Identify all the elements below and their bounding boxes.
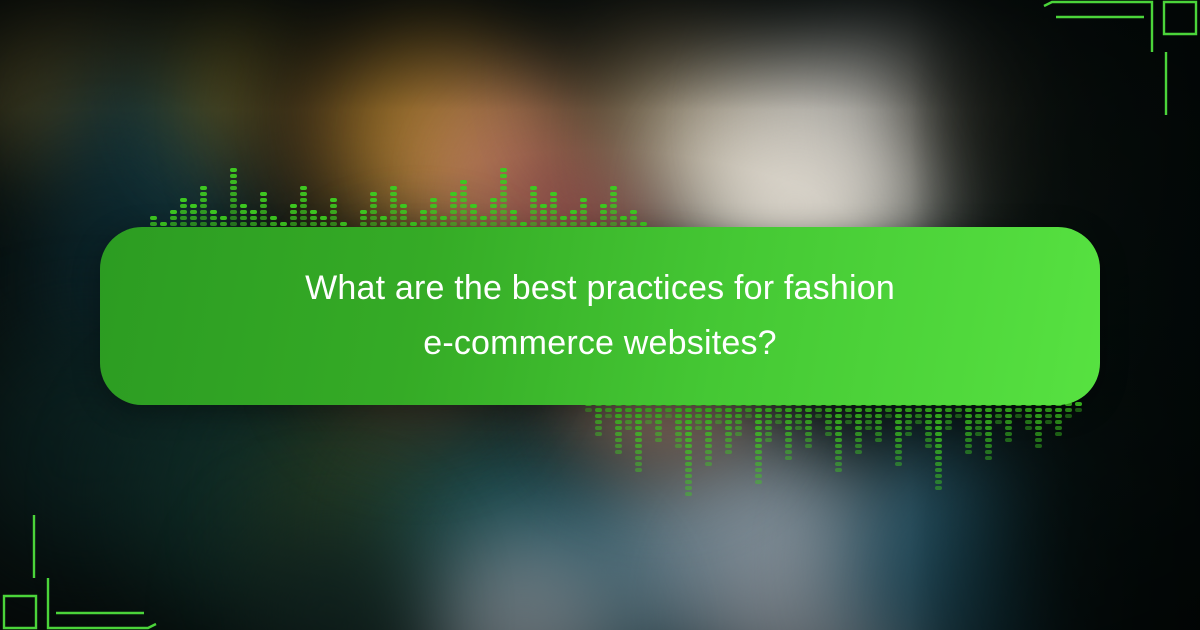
waveform-dot xyxy=(945,426,952,430)
waveform-dot xyxy=(240,204,247,208)
waveform-dot xyxy=(530,198,537,202)
waveform-dot xyxy=(895,414,902,418)
waveform-dot xyxy=(915,408,922,412)
waveform-dot xyxy=(975,420,982,424)
waveform-dot xyxy=(935,474,942,478)
waveform-dot xyxy=(785,408,792,412)
waveform-dot xyxy=(785,414,792,418)
waveform-dot xyxy=(995,414,1002,418)
waveform-dot xyxy=(450,204,457,208)
waveform-dot xyxy=(290,222,297,226)
waveform-dot xyxy=(630,210,637,214)
waveform-dot xyxy=(490,198,497,202)
waveform-dot xyxy=(290,204,297,208)
waveform-dot xyxy=(725,444,732,448)
waveform-dot xyxy=(630,216,637,220)
waveform-dot xyxy=(655,408,662,412)
waveform-dot xyxy=(845,414,852,418)
waveform-dot xyxy=(450,210,457,214)
waveform-dot xyxy=(460,216,467,220)
waveform-dot xyxy=(390,210,397,214)
waveform-dot xyxy=(1015,414,1022,418)
waveform-dot xyxy=(765,426,772,430)
waveform-dot xyxy=(300,198,307,202)
waveform-dot xyxy=(665,408,672,412)
waveform-dot xyxy=(190,204,197,208)
waveform-dot xyxy=(965,444,972,448)
waveform-dot xyxy=(785,432,792,436)
waveform-dot xyxy=(865,408,872,412)
waveform-dot xyxy=(875,438,882,442)
waveform-dot xyxy=(1025,426,1032,430)
waveform-dot xyxy=(580,198,587,202)
waveform-dot xyxy=(975,414,982,418)
waveform-dot xyxy=(620,222,627,226)
waveform-dot xyxy=(470,204,477,208)
waveform-dot xyxy=(440,216,447,220)
waveform-dot xyxy=(170,210,177,214)
waveform-dot xyxy=(735,432,742,436)
waveform-dot xyxy=(925,426,932,430)
waveform-dot xyxy=(825,408,832,412)
waveform-dot xyxy=(595,420,602,424)
waveform-dot xyxy=(230,222,237,226)
waveform-dot xyxy=(835,408,842,412)
waveform-dot xyxy=(635,456,642,460)
waveform-bar xyxy=(685,400,692,496)
waveform-dot xyxy=(1005,420,1012,424)
waveform-dot xyxy=(300,210,307,214)
waveform-dot xyxy=(785,438,792,442)
waveform-dot xyxy=(635,462,642,466)
waveform-dot xyxy=(370,210,377,214)
waveform-dot xyxy=(1005,432,1012,436)
waveform-dot xyxy=(460,186,467,190)
waveform-dot xyxy=(815,408,822,412)
waveform-dot xyxy=(685,492,692,496)
waveform-dot xyxy=(615,414,622,418)
waveform-dot xyxy=(895,420,902,424)
waveform-dot xyxy=(160,222,167,226)
waveform-dot xyxy=(785,450,792,454)
waveform-dot xyxy=(180,216,187,220)
waveform-dot xyxy=(875,426,882,430)
waveform-dot xyxy=(460,210,467,214)
waveform-dot xyxy=(955,414,962,418)
waveform-dot xyxy=(390,192,397,196)
waveform-dot xyxy=(945,408,952,412)
waveform-dot xyxy=(410,222,417,226)
waveform-dot xyxy=(500,210,507,214)
waveform-dot xyxy=(300,204,307,208)
waveform-dot xyxy=(645,408,652,412)
waveform-dot xyxy=(675,414,682,418)
waveform-dot xyxy=(500,174,507,178)
waveform-dot xyxy=(470,210,477,214)
waveform-dot xyxy=(625,408,632,412)
waveform-dot xyxy=(755,444,762,448)
waveform-dot xyxy=(450,216,457,220)
waveform-dot xyxy=(955,408,962,412)
waveform-dot xyxy=(735,426,742,430)
waveform-dot xyxy=(935,468,942,472)
waveform-dot xyxy=(835,414,842,418)
waveform-dot xyxy=(665,414,672,418)
waveform-dot xyxy=(380,222,387,226)
waveform-dot xyxy=(1055,432,1062,436)
waveform-dot xyxy=(1035,414,1042,418)
waveform-dot xyxy=(440,222,447,226)
waveform-dot xyxy=(715,408,722,412)
question-card: What are the best practices for fashion … xyxy=(100,227,1100,405)
waveform-dot xyxy=(845,408,852,412)
waveform-dot xyxy=(490,210,497,214)
waveform-dot xyxy=(925,414,932,418)
waveform-dot xyxy=(755,432,762,436)
waveform-dot xyxy=(450,192,457,196)
waveform-dot xyxy=(725,426,732,430)
waveform-dot xyxy=(965,426,972,430)
waveform-dot xyxy=(905,432,912,436)
waveform-bar xyxy=(925,400,932,448)
waveform-dot xyxy=(530,222,537,226)
waveform-dot xyxy=(835,438,842,442)
waveform-dot xyxy=(300,186,307,190)
waveform-dot xyxy=(290,210,297,214)
waveform-dot xyxy=(560,222,567,226)
waveform-dot xyxy=(685,432,692,436)
waveform-dot xyxy=(230,186,237,190)
waveform-dot xyxy=(400,216,407,220)
waveform-dot xyxy=(895,444,902,448)
waveform-bar xyxy=(805,400,812,448)
waveform-dot xyxy=(975,432,982,436)
waveform-dot xyxy=(805,444,812,448)
waveform-dot xyxy=(745,414,752,418)
waveform-dot xyxy=(935,480,942,484)
waveform-dot xyxy=(530,186,537,190)
waveform-dot xyxy=(985,432,992,436)
question-line-1: What are the best practices for fashion xyxy=(305,261,895,316)
waveform-dot xyxy=(1035,426,1042,430)
waveform-dot xyxy=(615,408,622,412)
waveform-dot xyxy=(965,420,972,424)
waveform-dot xyxy=(905,420,912,424)
waveform-dot xyxy=(935,414,942,418)
waveform-dot xyxy=(220,222,227,226)
waveform-dot xyxy=(685,486,692,490)
waveform-dot xyxy=(1005,408,1012,412)
waveform-dot xyxy=(695,414,702,418)
waveform-dot xyxy=(985,408,992,412)
waveform-dot xyxy=(675,438,682,442)
waveform-dot xyxy=(500,222,507,226)
waveform-dot xyxy=(685,450,692,454)
waveform-dot xyxy=(330,216,337,220)
waveform-dot xyxy=(1035,420,1042,424)
waveform-dot xyxy=(200,186,207,190)
waveform-dot xyxy=(340,222,347,226)
waveform-dot xyxy=(615,444,622,448)
waveform-dot xyxy=(300,222,307,226)
waveform-dot xyxy=(490,204,497,208)
waveform-bar xyxy=(875,400,882,442)
waveform-dot xyxy=(625,420,632,424)
waveform-dot xyxy=(290,216,297,220)
waveform-dot xyxy=(180,210,187,214)
waveform-dot xyxy=(390,216,397,220)
waveform-dot xyxy=(210,210,217,214)
waveform-dot xyxy=(835,420,842,424)
waveform-dot xyxy=(615,426,622,430)
waveform-dot xyxy=(985,420,992,424)
waveform-dot xyxy=(685,444,692,448)
waveform-dot xyxy=(805,408,812,412)
waveform-dot xyxy=(745,408,752,412)
waveform-dot xyxy=(705,420,712,424)
waveform-dot xyxy=(595,426,602,430)
waveform-dot xyxy=(630,222,637,226)
waveform-dot xyxy=(775,408,782,412)
waveform-bar xyxy=(615,400,622,454)
waveform-dot xyxy=(550,222,557,226)
waveform-dot xyxy=(725,432,732,436)
waveform-dot xyxy=(430,210,437,214)
waveform-dot xyxy=(855,438,862,442)
waveform-dot xyxy=(260,216,267,220)
waveform-dot xyxy=(610,222,617,226)
waveform-dot xyxy=(570,216,577,220)
waveform-dot xyxy=(805,414,812,418)
waveform-dot xyxy=(655,432,662,436)
waveform-dot xyxy=(755,450,762,454)
waveform-dot xyxy=(635,432,642,436)
waveform-dot xyxy=(675,426,682,430)
waveform-dot xyxy=(805,420,812,424)
waveform-dot xyxy=(510,216,517,220)
waveform-dot xyxy=(935,432,942,436)
waveform-dot xyxy=(610,198,617,202)
waveform-dot xyxy=(1035,438,1042,442)
waveform-dot xyxy=(470,216,477,220)
waveform-dot xyxy=(875,420,882,424)
waveform-dot xyxy=(300,192,307,196)
waveform-dot xyxy=(260,192,267,196)
waveform-dot xyxy=(925,420,932,424)
waveform-dot xyxy=(805,438,812,442)
waveform-dot xyxy=(240,210,247,214)
waveform-dot xyxy=(595,432,602,436)
waveform-dot xyxy=(1005,426,1012,430)
waveform-dot xyxy=(1025,414,1032,418)
waveform-dot xyxy=(915,414,922,418)
waveform-dot xyxy=(645,420,652,424)
waveform-dot xyxy=(685,420,692,424)
waveform-dot xyxy=(865,420,872,424)
waveform-dot xyxy=(420,216,427,220)
promo-card-image: What are the best practices for fashion … xyxy=(0,0,1200,630)
waveform-dot xyxy=(1055,426,1062,430)
waveform-dot xyxy=(230,174,237,178)
waveform-dot xyxy=(540,216,547,220)
waveform-dot xyxy=(755,462,762,466)
waveform-dot xyxy=(735,414,742,418)
waveform-dot xyxy=(300,216,307,220)
waveform-dot xyxy=(310,216,317,220)
waveform-dot xyxy=(835,468,842,472)
waveform-dot xyxy=(825,432,832,436)
waveform-dot xyxy=(715,420,722,424)
waveform-dot xyxy=(210,216,217,220)
waveform-dot xyxy=(230,192,237,196)
waveform-dot xyxy=(895,408,902,412)
waveform-dot xyxy=(450,222,457,226)
waveform-dot xyxy=(595,408,602,412)
waveform-dot xyxy=(705,432,712,436)
waveform-dot xyxy=(360,210,367,214)
waveform-dot xyxy=(725,420,732,424)
waveform-dot xyxy=(685,468,692,472)
waveform-dot xyxy=(600,210,607,214)
waveform-dot xyxy=(875,432,882,436)
waveform-dot xyxy=(655,420,662,424)
waveform-dot xyxy=(380,216,387,220)
waveform-bar xyxy=(755,400,762,484)
waveform-dot xyxy=(985,438,992,442)
waveform-dot xyxy=(1065,408,1072,412)
waveform-dot xyxy=(595,414,602,418)
waveform-dot xyxy=(835,456,842,460)
waveform-dot xyxy=(615,420,622,424)
waveform-dot xyxy=(230,210,237,214)
waveform-dot xyxy=(785,444,792,448)
waveform-dot xyxy=(1075,408,1082,412)
waveform-dot xyxy=(320,216,327,220)
waveform-dot xyxy=(180,198,187,202)
waveform-dot xyxy=(330,198,337,202)
waveform-dot xyxy=(925,408,932,412)
waveform-dot xyxy=(725,414,732,418)
waveform-dot xyxy=(755,426,762,430)
waveform-dot xyxy=(550,216,557,220)
waveform-dot xyxy=(875,408,882,412)
waveform-dot xyxy=(280,222,287,226)
waveform-dot xyxy=(615,450,622,454)
waveform-dot xyxy=(755,414,762,418)
waveform-dot xyxy=(935,444,942,448)
waveform-dot xyxy=(855,420,862,424)
waveform-dot xyxy=(795,420,802,424)
waveform-dot xyxy=(835,462,842,466)
waveform-dot xyxy=(685,414,692,418)
waveform-dot xyxy=(370,216,377,220)
waveform-dot xyxy=(735,408,742,412)
waveform-dot xyxy=(725,450,732,454)
waveform-dot xyxy=(610,186,617,190)
waveform-dot xyxy=(200,210,207,214)
waveform-dot xyxy=(935,456,942,460)
waveform-dot xyxy=(785,420,792,424)
waveform-dot xyxy=(470,222,477,226)
waveform-dot xyxy=(510,210,517,214)
waveform-dot xyxy=(580,204,587,208)
waveform-dot xyxy=(965,408,972,412)
waveform-bar xyxy=(905,400,912,436)
waveform-dot xyxy=(500,186,507,190)
waveform-dot xyxy=(1075,402,1082,406)
waveform-dot xyxy=(685,456,692,460)
waveform-dot xyxy=(400,204,407,208)
waveform-dot xyxy=(705,450,712,454)
waveform-bar xyxy=(975,400,982,436)
waveform-dot xyxy=(635,468,642,472)
waveform-dot xyxy=(855,450,862,454)
waveform-bar xyxy=(595,400,602,436)
waveform-dot xyxy=(540,204,547,208)
waveform-dot xyxy=(805,426,812,430)
waveform-dot xyxy=(645,414,652,418)
waveform-dot xyxy=(585,408,592,412)
waveform-dot xyxy=(935,450,942,454)
waveform-dot xyxy=(735,420,742,424)
waveform-dot xyxy=(490,222,497,226)
waveform-bar xyxy=(895,400,902,466)
waveform-dot xyxy=(625,414,632,418)
waveform-dot xyxy=(1005,438,1012,442)
waveform-dot xyxy=(430,216,437,220)
waveform-dot xyxy=(1045,420,1052,424)
waveform-dot xyxy=(390,204,397,208)
waveform-dot xyxy=(895,438,902,442)
waveform-dot xyxy=(685,462,692,466)
waveform-dot xyxy=(885,414,892,418)
waveform-dot xyxy=(370,192,377,196)
waveform-dot xyxy=(580,216,587,220)
waveform-dot xyxy=(570,210,577,214)
waveform-dot xyxy=(605,408,612,412)
waveform-dot xyxy=(655,438,662,442)
waveform-dot xyxy=(785,426,792,430)
waveform-dot xyxy=(200,216,207,220)
waveform-dot xyxy=(330,210,337,214)
waveform-dot xyxy=(460,222,467,226)
waveform-dot xyxy=(190,222,197,226)
waveform-dot xyxy=(200,204,207,208)
waveform-dot xyxy=(895,462,902,466)
waveform-dot xyxy=(965,414,972,418)
waveform-dot xyxy=(685,408,692,412)
waveform-dot xyxy=(615,438,622,442)
waveform-dot xyxy=(180,222,187,226)
waveform-dot xyxy=(705,426,712,430)
waveform-dot xyxy=(755,480,762,484)
waveform-dot xyxy=(825,414,832,418)
waveform-dot xyxy=(705,408,712,412)
waveform-dot xyxy=(935,420,942,424)
waveform-dot xyxy=(605,414,612,418)
waveform-dot xyxy=(755,438,762,442)
waveform-dot xyxy=(1015,408,1022,412)
question-line-2: e-commerce websites? xyxy=(423,316,777,371)
waveform-dot xyxy=(935,462,942,466)
waveform-dot xyxy=(935,438,942,442)
waveform-dot xyxy=(600,216,607,220)
waveform-dot xyxy=(985,450,992,454)
waveform-dot xyxy=(170,222,177,226)
waveform-dot xyxy=(420,210,427,214)
waveform-dot xyxy=(400,210,407,214)
waveform-dot xyxy=(655,426,662,430)
